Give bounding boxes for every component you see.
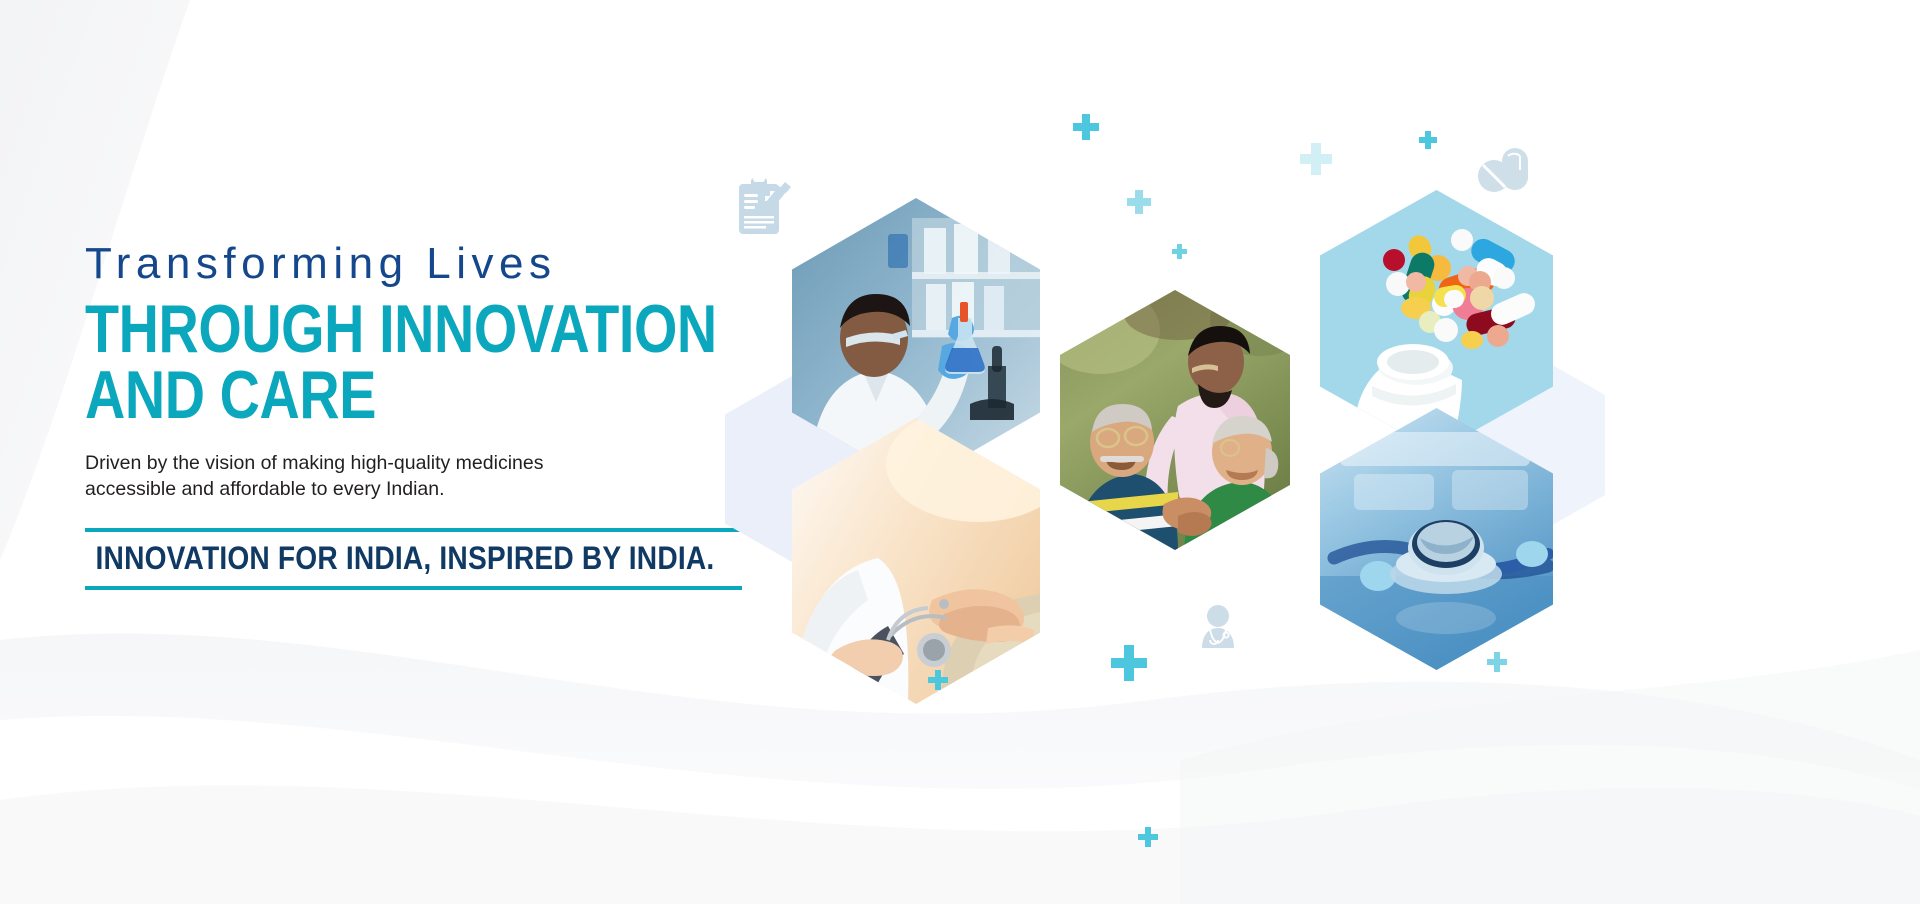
hero-eyebrow: Transforming Lives xyxy=(85,240,765,288)
pills-capsule-icon xyxy=(1476,146,1532,194)
cross-5 xyxy=(1419,131,1437,149)
hero-banner: Transforming Lives THROUGH INNOVATION AN… xyxy=(0,0,1920,904)
cross-2 xyxy=(1127,190,1151,214)
hero-subtext-line1: Driven by the vision of making high-qual… xyxy=(85,452,543,474)
hero-tagline-block: INNOVATION FOR INDIA, INSPIRED BY INDIA. xyxy=(85,528,742,590)
cross-8 xyxy=(1487,652,1507,672)
tagline-rule-bottom xyxy=(85,586,742,590)
hero-headline-line2: AND CARE xyxy=(85,362,643,429)
family-caregiving-hexagon xyxy=(1060,290,1290,550)
cross-4 xyxy=(1300,143,1332,175)
cross-9 xyxy=(928,670,948,690)
hero-subtext: Driven by the vision of making high-qual… xyxy=(85,451,745,502)
hero-headline: THROUGH INNOVATION AND CARE xyxy=(85,296,643,429)
hero-text-column: Transforming Lives THROUGH INNOVATION AN… xyxy=(85,240,765,590)
cross-3 xyxy=(1172,244,1187,259)
cross-7 xyxy=(1138,827,1158,847)
hero-tagline: INNOVATION FOR INDIA, INSPIRED BY INDIA. xyxy=(85,532,663,586)
cross-1 xyxy=(1073,114,1099,140)
cross-6 xyxy=(1111,645,1147,681)
prescription-clipboard-icon xyxy=(735,176,791,238)
hexagon-image-cluster xyxy=(860,150,1860,790)
hero-headline-line1: THROUGH INNOVATION xyxy=(85,291,717,367)
hero-subtext-line2: accessible and affordable to every India… xyxy=(85,478,445,500)
doctor-avatar-icon xyxy=(1196,604,1240,650)
